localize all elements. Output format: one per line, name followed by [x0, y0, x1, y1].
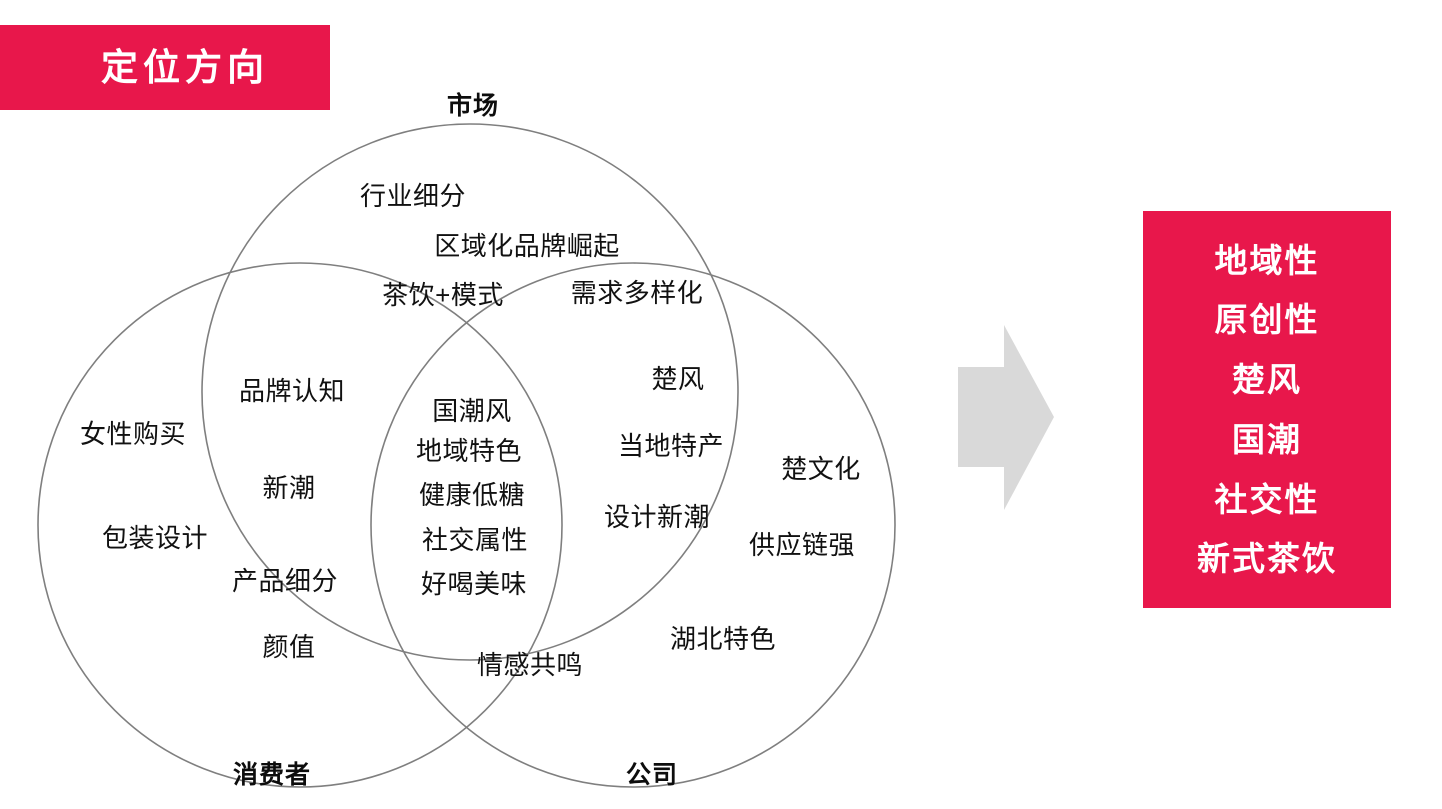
- venn-item-consumer-company-0: 情感共鸣: [477, 651, 583, 680]
- venn-item-market-company-2: 设计新潮: [604, 503, 710, 532]
- venn-item-consumer-1: 包装设计: [102, 524, 208, 553]
- venn-item-center-4: 好喝美味: [421, 570, 527, 599]
- result-item-0: 地域性: [1215, 244, 1320, 277]
- venn-label-consumer: 消费者: [233, 755, 311, 791]
- venn-item-company-0: 楚文化: [781, 455, 861, 484]
- venn-label-market: 市场: [447, 86, 499, 122]
- venn-item-market-company-1: 当地特产: [618, 432, 724, 461]
- venn-item-market-company-0: 楚风: [651, 365, 704, 394]
- result-item-1: 原创性: [1215, 303, 1320, 336]
- venn-label-company: 公司: [626, 755, 678, 791]
- venn-diagram: 市场 消费者 公司 行业细分 区域化品牌崛起 茶饮+模式 需求多样化 女性购买 …: [0, 0, 940, 809]
- venn-item-company-2: 湖北特色: [670, 625, 776, 654]
- venn-item-market-consumer-1: 新潮: [262, 474, 315, 503]
- venn-item-center-1: 地域特色: [416, 437, 522, 466]
- venn-item-center-2: 健康低糖: [419, 481, 525, 510]
- venn-item-market-consumer-3: 颜值: [262, 633, 315, 662]
- venn-item-center-3: 社交属性: [422, 526, 528, 555]
- result-item-4: 社交性: [1215, 483, 1320, 516]
- result-item-3: 国潮: [1232, 423, 1302, 456]
- venn-item-market-1: 区域化品牌崛起: [434, 232, 620, 261]
- result-item-5: 新式茶饮: [1197, 542, 1337, 575]
- venn-item-company-1: 供应链强: [749, 531, 855, 560]
- venn-item-center-0: 国潮风: [432, 397, 512, 426]
- venn-item-market-0: 行业细分: [360, 182, 466, 211]
- venn-item-market-consumer-0: 品牌认知: [239, 377, 345, 406]
- result-item-2: 楚风: [1232, 363, 1302, 396]
- venn-item-market-consumer-2: 产品细分: [232, 567, 338, 596]
- venn-item-consumer-0: 女性购买: [80, 420, 186, 449]
- right-arrow-icon: [958, 325, 1054, 510]
- venn-item-market-2: 茶饮+模式: [382, 281, 504, 310]
- venn-item-market-3: 需求多样化: [571, 279, 704, 308]
- result-panel: 地域性 原创性 楚风 国潮 社交性 新式茶饮: [1143, 211, 1391, 608]
